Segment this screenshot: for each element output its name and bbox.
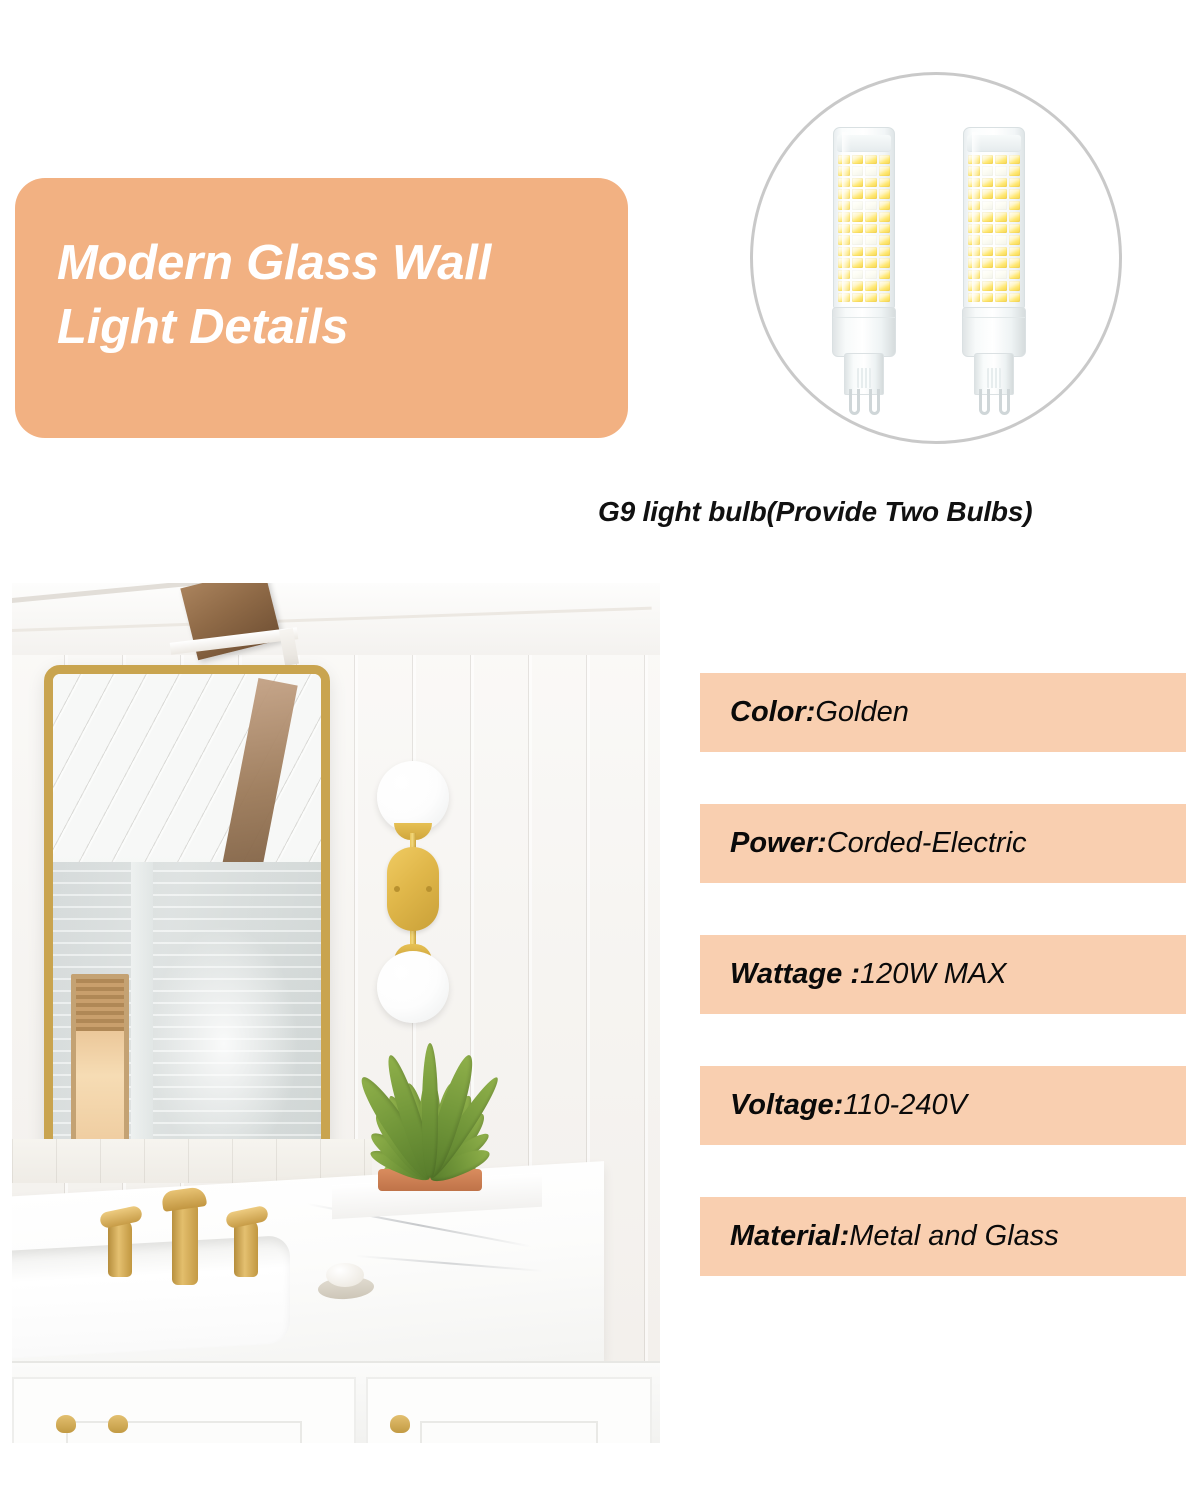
led-chip: [865, 155, 877, 164]
led-chip: [879, 224, 891, 233]
spec-row: Wattage :120W MAX: [700, 935, 1186, 1014]
led-chip: [995, 293, 1007, 302]
reflected-window: [71, 974, 129, 1155]
spec-row: Power:Corded-Electric: [700, 804, 1186, 883]
mirror-reflection: [53, 674, 321, 1146]
bulb-glass-tube: [833, 127, 895, 309]
title-banner: Modern Glass Wall Light Details: [15, 178, 628, 438]
led-chip: [1009, 270, 1021, 279]
led-chip: [982, 235, 994, 244]
led-chip: [852, 270, 864, 279]
led-chip: [852, 247, 864, 256]
bulb-glass-highlight: [972, 132, 981, 304]
faucet-handle-right: [234, 1219, 258, 1277]
led-chip: [982, 201, 994, 210]
cabinet-door-panel: [420, 1421, 598, 1443]
led-chip: [865, 166, 877, 175]
g9-led-bulb-right: [961, 127, 1027, 399]
led-chip: [865, 178, 877, 187]
led-chip: [995, 235, 1007, 244]
spec-row: Voltage:110-240V: [700, 1066, 1186, 1145]
led-chip: [995, 155, 1007, 164]
led-chip: [865, 293, 877, 302]
spec-row: Color:Golden: [700, 673, 1186, 752]
bulb-glass-tube: [963, 127, 1025, 309]
led-chip: [982, 178, 994, 187]
reflected-woven-blind: [76, 979, 124, 1031]
led-chip: [865, 235, 877, 244]
bulb-ceramic-base: [832, 307, 896, 357]
led-chip: [982, 270, 994, 279]
terracotta-pot: [384, 1175, 476, 1287]
bulb-glass-highlight: [842, 132, 851, 304]
led-chip: [982, 155, 994, 164]
led-chip: [995, 281, 1007, 290]
led-chip: [1009, 178, 1021, 187]
bulb-ceramic-base: [962, 307, 1026, 357]
sconce-globe-lower: [377, 951, 449, 1023]
led-chip: [879, 247, 891, 256]
led-chip: [982, 293, 994, 302]
led-chip: [852, 258, 864, 267]
bulb-caption: G9 light bulb(Provide Two Bulbs): [598, 496, 1198, 528]
cabinet-knob: [56, 1415, 76, 1433]
led-chip: [852, 189, 864, 198]
led-chip: [852, 293, 864, 302]
led-chip: [995, 270, 1007, 279]
spec-label: Power:: [730, 827, 827, 860]
led-chip: [995, 247, 1007, 256]
cabinet-door-panel: [66, 1421, 302, 1443]
spec-value: 110-240V: [843, 1089, 967, 1122]
lifestyle-photo: [12, 583, 660, 1443]
led-chip: [852, 155, 864, 164]
led-chip: [852, 178, 864, 187]
bulb-pin-left: [849, 389, 860, 415]
spec-label: Wattage :: [730, 958, 860, 991]
cabinet-door-right: [366, 1377, 652, 1443]
spec-label: Color:: [730, 696, 815, 729]
reflected-light-glow: [149, 924, 299, 1155]
led-chip: [879, 201, 891, 210]
spec-list: Color:GoldenPower:Corded-ElectricWattage…: [700, 673, 1186, 1276]
sconce-screw-right: [426, 886, 432, 892]
gold-framed-mirror: [44, 665, 330, 1155]
led-chip: [1009, 247, 1021, 256]
led-chip: [852, 201, 864, 210]
led-chip: [982, 166, 994, 175]
led-chip: [982, 189, 994, 198]
two-light-globe-wall-sconce: [368, 761, 458, 1023]
cabinet-door-left: [12, 1377, 356, 1443]
led-chip: [995, 212, 1007, 221]
led-chip: [865, 247, 877, 256]
led-chip: [1009, 235, 1021, 244]
led-chip: [865, 258, 877, 267]
led-chip: [995, 224, 1007, 233]
product-detail-page: Modern Glass Wall Light Details: [0, 0, 1200, 1500]
led-chip: [982, 258, 994, 267]
led-chip: [1009, 293, 1021, 302]
spec-label: Voltage:: [730, 1089, 843, 1122]
led-chip: [852, 281, 864, 290]
led-chip: [1009, 224, 1021, 233]
led-chip: [995, 201, 1007, 210]
white-vanity-cabinet: [12, 1361, 660, 1443]
led-chip: [1009, 212, 1021, 221]
led-chip: [879, 258, 891, 267]
spec-value: Corded-Electric: [827, 827, 1027, 860]
soap-bar: [326, 1263, 364, 1287]
led-chip: [865, 212, 877, 221]
led-chip: [1009, 155, 1021, 164]
led-chip: [879, 293, 891, 302]
led-chip: [865, 224, 877, 233]
spec-value: Golden: [815, 696, 909, 729]
led-chip: [879, 270, 891, 279]
led-chip: [995, 258, 1007, 267]
led-chip: [1009, 189, 1021, 198]
led-chip: [879, 178, 891, 187]
led-chip: [982, 212, 994, 221]
bulb-stage: [753, 75, 1119, 441]
led-chip: [852, 224, 864, 233]
led-chip: [995, 166, 1007, 175]
bulb-knurl: [857, 368, 871, 388]
led-chip: [865, 201, 877, 210]
bulb-pin-right: [999, 389, 1010, 415]
page-title: Modern Glass Wall Light Details: [57, 232, 617, 359]
led-chip: [865, 281, 877, 290]
bulb-base-ring: [963, 317, 1025, 318]
led-chip: [995, 189, 1007, 198]
succulent-plant: [364, 1035, 496, 1177]
led-chip: [1009, 166, 1021, 175]
spec-label: Material:: [730, 1220, 849, 1253]
spec-value: 120W MAX: [860, 958, 1007, 991]
spec-value: Metal and Glass: [849, 1220, 1059, 1253]
led-chip: [982, 247, 994, 256]
succulent-leaf: [422, 1043, 438, 1177]
led-chip: [852, 166, 864, 175]
sconce-backplate: [387, 847, 439, 931]
led-chip: [879, 189, 891, 198]
led-chip: [879, 155, 891, 164]
led-chip: [852, 212, 864, 221]
led-chip: [865, 189, 877, 198]
led-chip: [879, 212, 891, 221]
led-chip: [995, 178, 1007, 187]
bulb-knurl: [987, 368, 1001, 388]
led-chip: [982, 281, 994, 290]
faucet-handle-left: [108, 1219, 132, 1277]
g9-led-bulb-left: [831, 127, 897, 399]
spec-row: Material:Metal and Glass: [700, 1197, 1186, 1276]
cabinet-knob: [390, 1415, 410, 1433]
bulb-pin-left: [979, 389, 990, 415]
led-chip: [879, 166, 891, 175]
bulb-illustration-circle: [750, 72, 1122, 444]
led-chip: [852, 235, 864, 244]
led-chip: [1009, 258, 1021, 267]
led-chip: [879, 235, 891, 244]
led-chip: [982, 224, 994, 233]
tile-backsplash: [12, 1139, 372, 1183]
led-chip: [865, 270, 877, 279]
cabinet-knob: [108, 1415, 128, 1433]
bulb-base-ring: [833, 317, 895, 318]
bulb-pin-right: [869, 389, 880, 415]
led-chip: [1009, 201, 1021, 210]
led-chip: [879, 281, 891, 290]
led-chip: [1009, 281, 1021, 290]
sconce-screw-left: [394, 886, 400, 892]
